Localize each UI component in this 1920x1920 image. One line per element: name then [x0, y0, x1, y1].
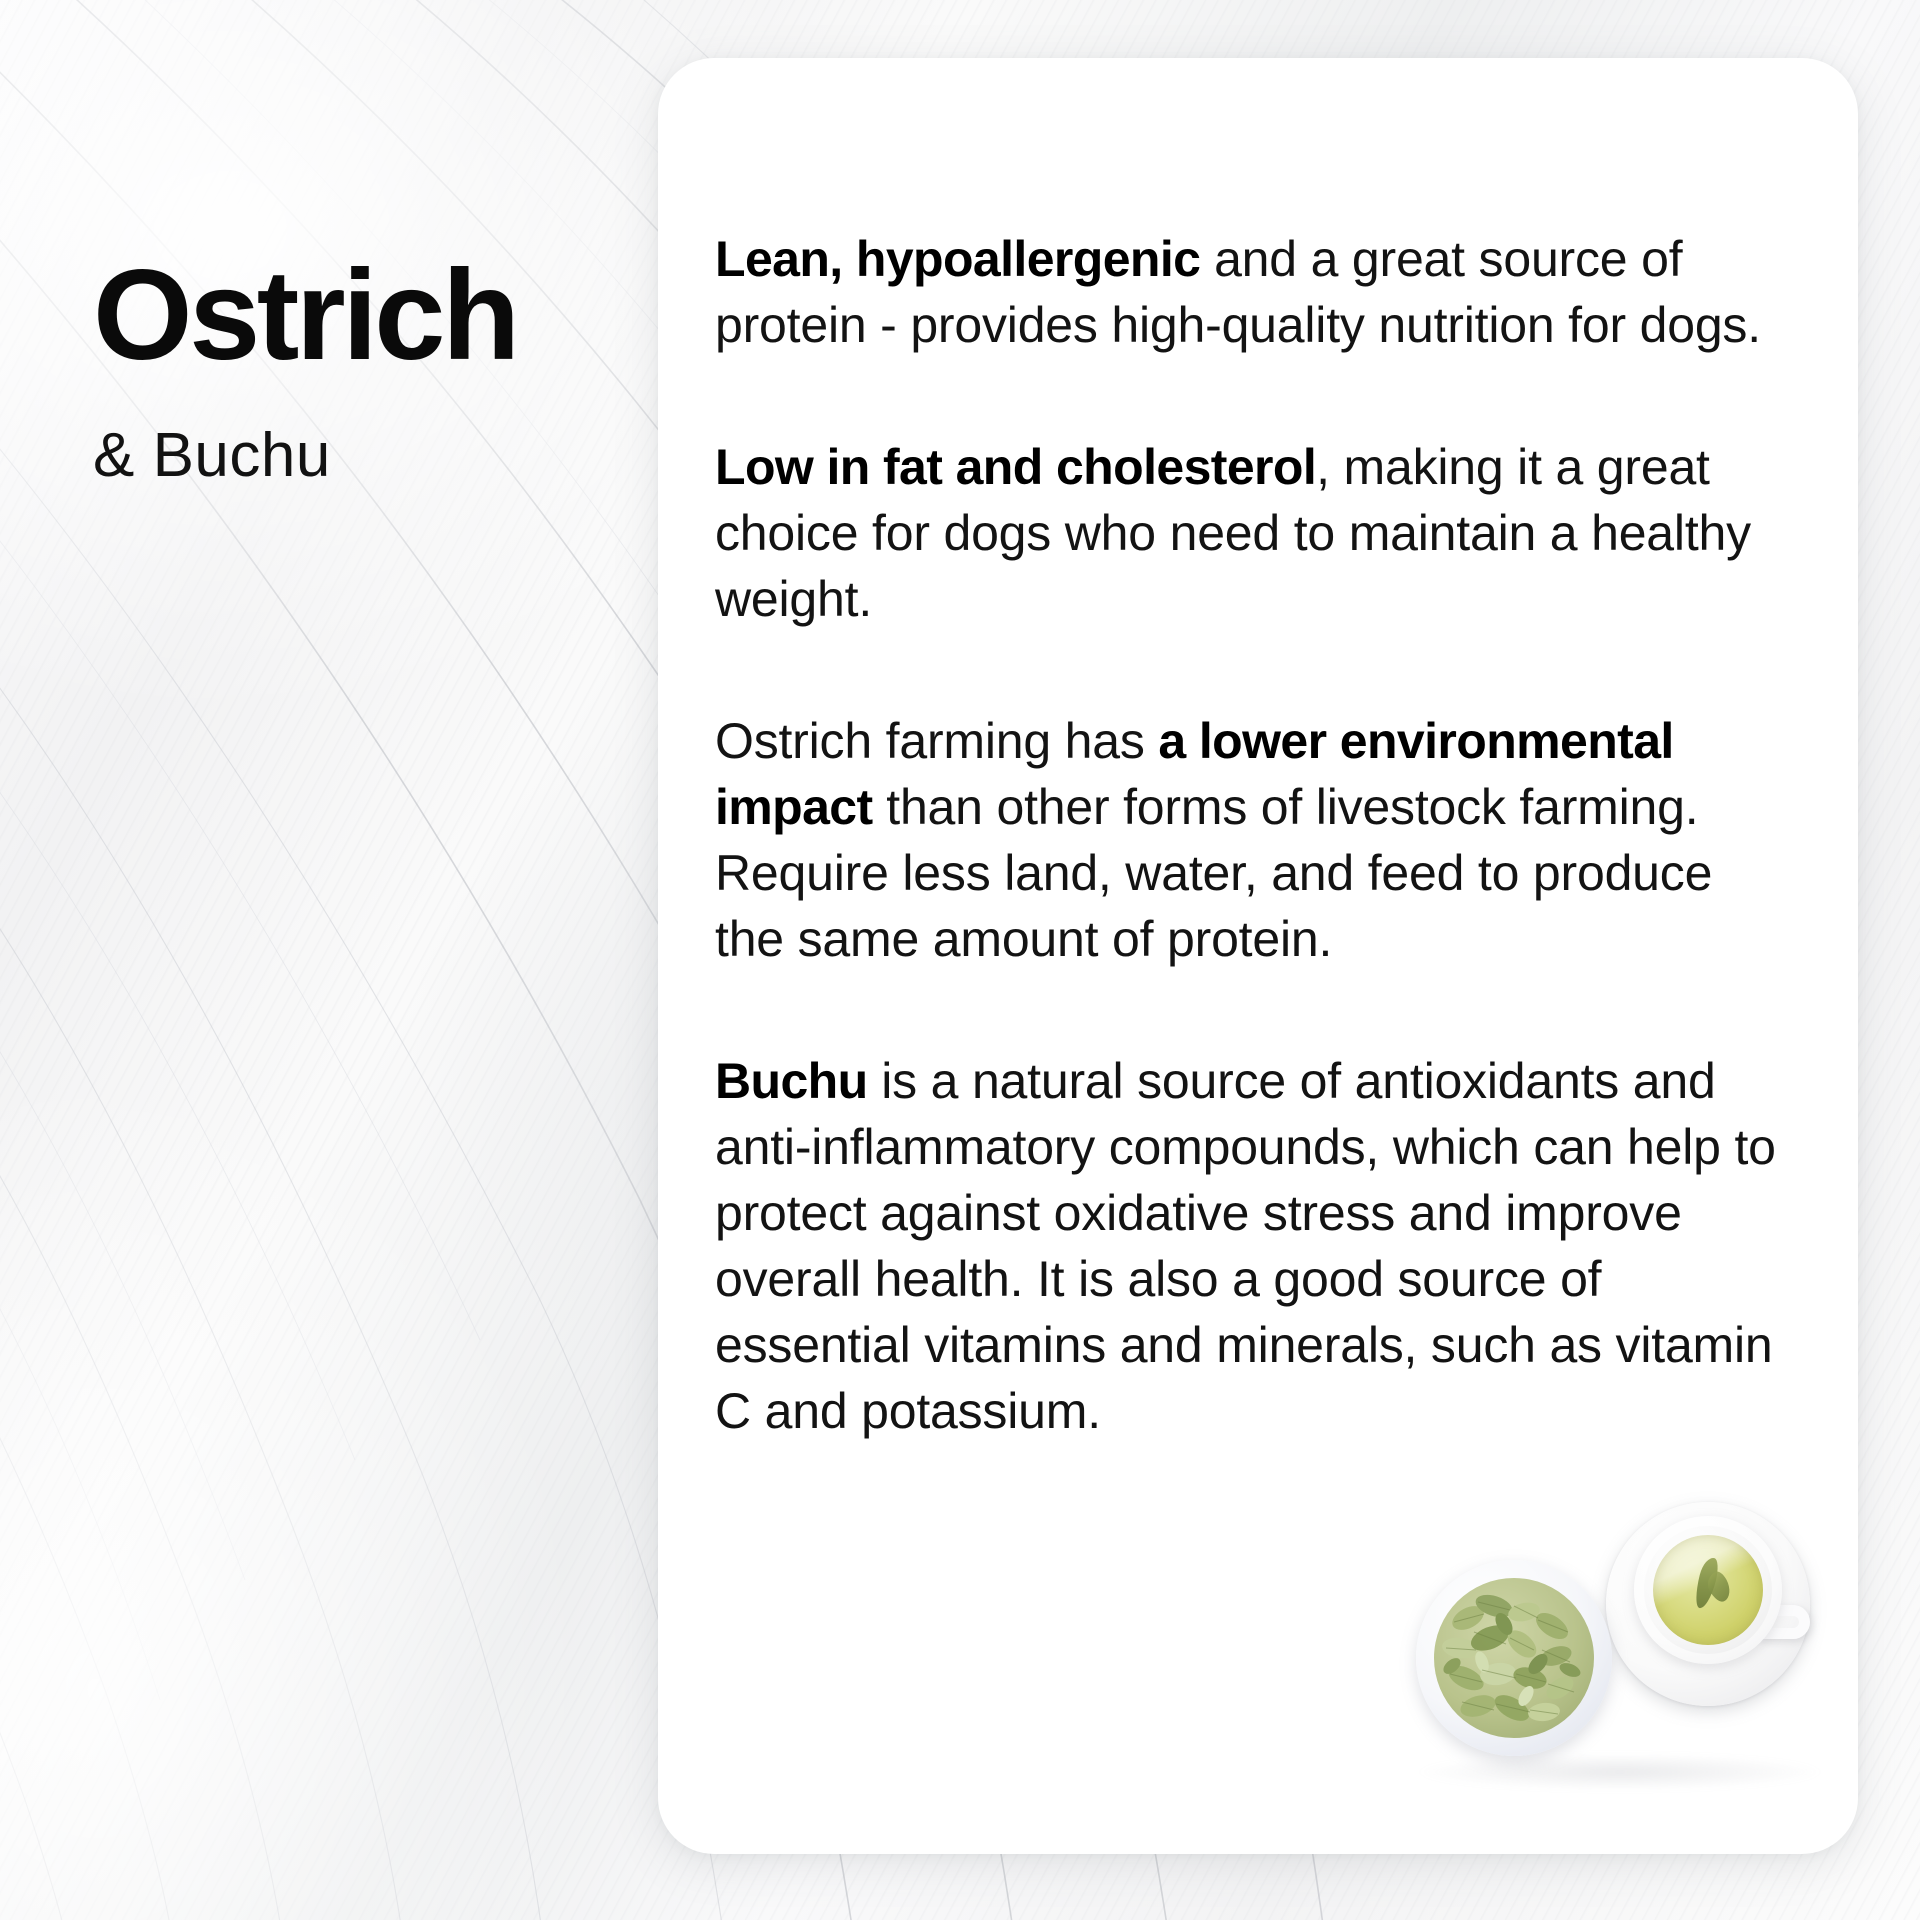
dried-buchu-leaves-icon: [1434, 1578, 1594, 1738]
benefit-paragraph-3: Ostrich farming has a lower environmenta…: [715, 708, 1780, 972]
benefit-paragraph-4: Buchu is a natural source of antioxidant…: [715, 1048, 1780, 1444]
benefit-paragraph-1: Lean, hypoallergenic and a great source …: [715, 226, 1780, 358]
leaf-bowl-contents: [1434, 1578, 1594, 1738]
page-title: Ostrich: [93, 252, 633, 380]
buchu-product-photo: [1410, 1500, 1830, 1830]
left-header-column: Ostrich & Buchu: [0, 0, 660, 1920]
info-card: Lean, hypoallergenic and a great source …: [658, 58, 1858, 1854]
benefit-paragraph-2: Low in fat and cholesterol, making it a …: [715, 434, 1780, 632]
benefit-4-bold-lead: Buchu: [715, 1053, 868, 1109]
photo-drop-shadow: [1420, 1754, 1820, 1790]
title-block: Ostrich & Buchu: [93, 252, 633, 490]
benefit-4-text: is a natural source of antioxidants and …: [715, 1053, 1776, 1439]
benefit-1-bold-lead: Lean, hypoallergenic: [715, 231, 1200, 287]
page-subtitle: & Buchu: [93, 422, 633, 490]
benefit-2-bold-lead: Low in fat and cholesterol: [715, 439, 1316, 495]
card-body: Lean, hypoallergenic and a great source …: [715, 226, 1780, 1444]
benefit-3-pre-text: Ostrich farming has: [715, 713, 1158, 769]
